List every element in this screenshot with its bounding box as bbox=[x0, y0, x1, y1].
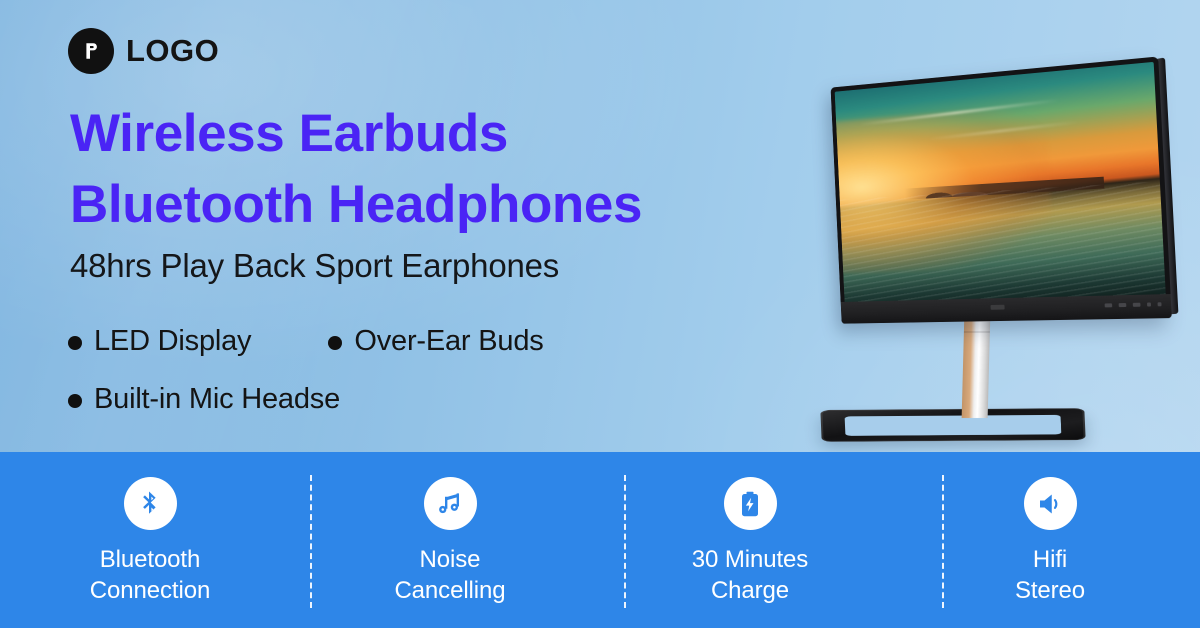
feature-bluetooth-connection[interactable]: Bluetooth Connection bbox=[0, 452, 300, 628]
feature-label-line2: Cancelling bbox=[394, 577, 505, 604]
brand-logo-text: LOGO bbox=[126, 33, 219, 69]
feature-label-line1: Noise bbox=[420, 546, 481, 573]
feature-label: Noise Cancelling bbox=[394, 545, 505, 607]
monitor-stand-base bbox=[820, 408, 1085, 442]
bullet-dot-icon bbox=[68, 394, 82, 408]
feature-hifi-stereo[interactable]: Hifi Stereo bbox=[900, 452, 1200, 628]
hero-headline: Wireless Earbuds Bluetooth Headphones bbox=[70, 98, 790, 240]
bullet-label: LED Display bbox=[94, 325, 251, 358]
feature-noise-cancelling[interactable]: Noise Cancelling bbox=[300, 452, 600, 628]
battery-charging-icon bbox=[724, 477, 777, 530]
bullet-row: Built-in Mic Headse bbox=[68, 383, 728, 416]
feature-label-line2: Charge bbox=[711, 577, 789, 604]
water-reflection-streaks bbox=[840, 181, 1166, 304]
bullet-dot-icon bbox=[68, 336, 82, 350]
speaker-volume-icon bbox=[1024, 477, 1077, 530]
monitor-body bbox=[831, 56, 1172, 323]
feature-label-line1: Bluetooth bbox=[100, 546, 201, 573]
bullet-item-over-ear-buds: Over-Ear Buds bbox=[328, 325, 543, 358]
feature-label-line1: 30 Minutes bbox=[692, 546, 808, 573]
feature-label-line1: Hifi bbox=[1033, 546, 1067, 573]
feature-label-line2: Stereo bbox=[1015, 577, 1085, 604]
feature-divider bbox=[310, 475, 312, 608]
monitor-power-button-icon[interactable] bbox=[1158, 302, 1162, 306]
promo-banner: LOGO Wireless Earbuds Bluetooth Headphon… bbox=[0, 0, 1200, 628]
hero-subheadline: 48hrs Play Back Sport Earphones bbox=[70, 247, 559, 285]
bluetooth-icon bbox=[124, 477, 177, 530]
music-note-icon bbox=[424, 477, 477, 530]
feature-label-line2: Connection bbox=[90, 577, 210, 604]
bullet-row: LED Display Over-Ear Buds bbox=[68, 325, 728, 358]
monitor-brand-mark-icon bbox=[991, 305, 1005, 310]
monitor-screen-wallpaper bbox=[835, 62, 1166, 304]
bullet-item-led-display: LED Display bbox=[68, 325, 251, 358]
monitor-stand-column bbox=[962, 314, 991, 418]
headline-line-2: Bluetooth Headphones bbox=[70, 169, 790, 240]
feature-bar: Bluetooth Connection Noise Cancelling bbox=[0, 452, 1200, 628]
monitor-button-icon[interactable] bbox=[1105, 303, 1113, 307]
feature-30-minutes-charge[interactable]: 30 Minutes Charge bbox=[600, 452, 900, 628]
bullet-label: Built-in Mic Headse bbox=[94, 383, 340, 416]
feature-label: Bluetooth Connection bbox=[90, 545, 210, 607]
bullet-dot-icon bbox=[328, 336, 342, 350]
monitor-button-icon[interactable] bbox=[1119, 303, 1127, 307]
feature-label: Hifi Stereo bbox=[1015, 545, 1085, 607]
product-image-monitor bbox=[735, 18, 1200, 458]
monitor-button-icon[interactable] bbox=[1147, 302, 1151, 306]
monitor-button-icon[interactable] bbox=[1133, 303, 1141, 307]
feature-bullet-list: LED Display Over-Ear Buds Built-in Mic H… bbox=[68, 325, 728, 416]
monitor-bezel bbox=[831, 56, 1172, 323]
feature-label: 30 Minutes Charge bbox=[692, 545, 808, 607]
headline-line-1: Wireless Earbuds bbox=[70, 98, 790, 169]
monitor-control-buttons[interactable] bbox=[1105, 302, 1162, 307]
bullet-item-built-in-mic: Built-in Mic Headse bbox=[68, 383, 340, 416]
feature-divider bbox=[624, 475, 626, 608]
brand-logo[interactable]: LOGO bbox=[68, 28, 219, 74]
p-logo-mark-icon bbox=[68, 28, 114, 74]
bullet-label: Over-Ear Buds bbox=[354, 325, 543, 358]
feature-divider bbox=[942, 475, 944, 608]
